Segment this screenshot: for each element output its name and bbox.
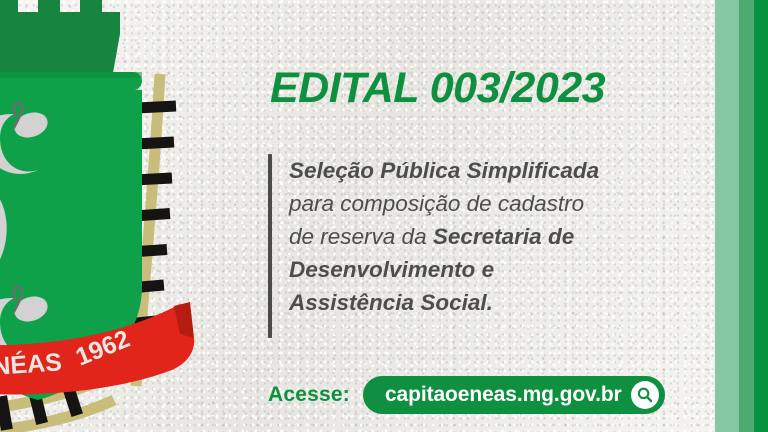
bar-mid-green <box>739 0 754 432</box>
body-line-3c: de <box>548 224 574 249</box>
bar-dark-green <box>754 0 768 432</box>
accent-bar <box>268 154 272 338</box>
access-label: Acesse: <box>268 383 350 407</box>
search-icon[interactable] <box>631 381 659 409</box>
poster-canvas: O ENÉAS 1962 EDITAL 003/2023 Seleção Púb… <box>0 0 768 432</box>
body-line-2: para composição de cadastro <box>289 187 686 220</box>
body-line-3b: Secretaria <box>433 224 542 249</box>
body-line-3a: de reserva da <box>289 224 427 249</box>
body-block: Seleção Pública Simplificada para compos… <box>268 154 686 338</box>
coat-of-arms: O ENÉAS 1962 <box>0 0 248 432</box>
body-line-1: Seleção Pública Simplificada <box>289 158 599 183</box>
body-text: Seleção Pública Simplificada para compos… <box>289 154 686 338</box>
website-url-text: capitaoeneas.mg.gov.br <box>385 383 622 407</box>
website-url-button[interactable]: capitaoeneas.mg.gov.br <box>363 376 665 414</box>
body-line-4a: Desenvolvimento <box>289 257 475 282</box>
page-title: EDITAL 003/2023 <box>270 64 605 113</box>
right-color-bars <box>715 0 768 432</box>
bar-light-green <box>715 0 739 432</box>
body-line-4b: e <box>482 257 495 282</box>
access-row: Acesse: capitaoeneas.mg.gov.br <box>268 376 665 414</box>
body-line-5: Assistência Social. <box>289 290 493 315</box>
